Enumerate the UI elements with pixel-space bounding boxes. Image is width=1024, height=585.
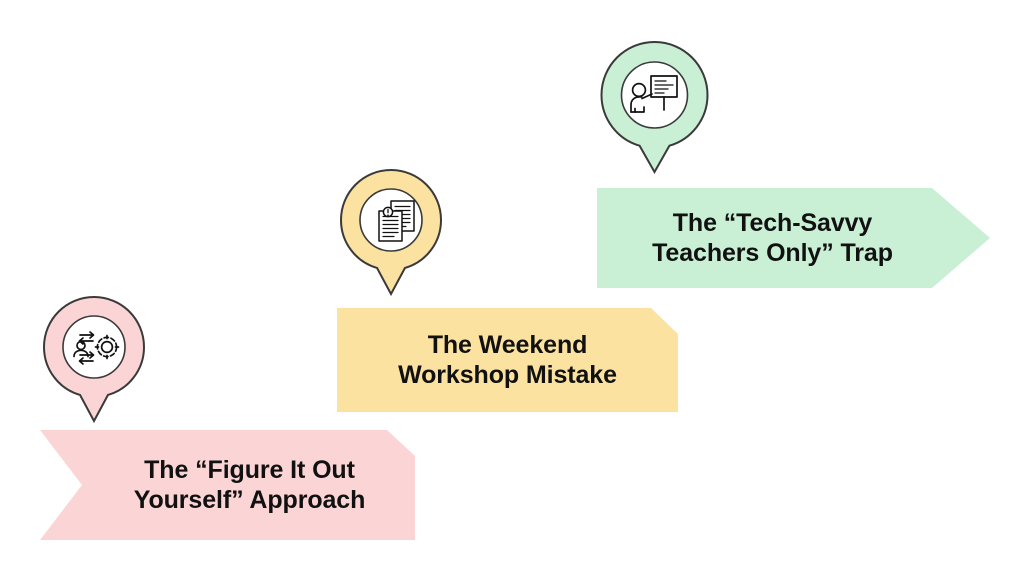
banner-step-3[interactable]: The “Tech-Savvy Teachers Only” Trap <box>597 188 990 288</box>
banner-step-2[interactable]: The Weekend Workshop Mistake <box>337 308 678 412</box>
banner-label-step-2: The Weekend Workshop Mistake <box>398 330 617 391</box>
pin-step-1[interactable] <box>40 295 148 423</box>
banner-label-step-3: The “Tech-Savvy Teachers Only” Trap <box>652 208 935 269</box>
infographic-canvas: The “Figure It Out Yourself” Approach <box>0 0 1024 585</box>
banner-step-1[interactable]: The “Figure It Out Yourself” Approach <box>40 430 415 540</box>
pin-step-3[interactable] <box>597 40 712 174</box>
banner-label-step-1: The “Figure It Out Yourself” Approach <box>90 455 366 516</box>
pin-step-2[interactable] <box>337 168 445 296</box>
